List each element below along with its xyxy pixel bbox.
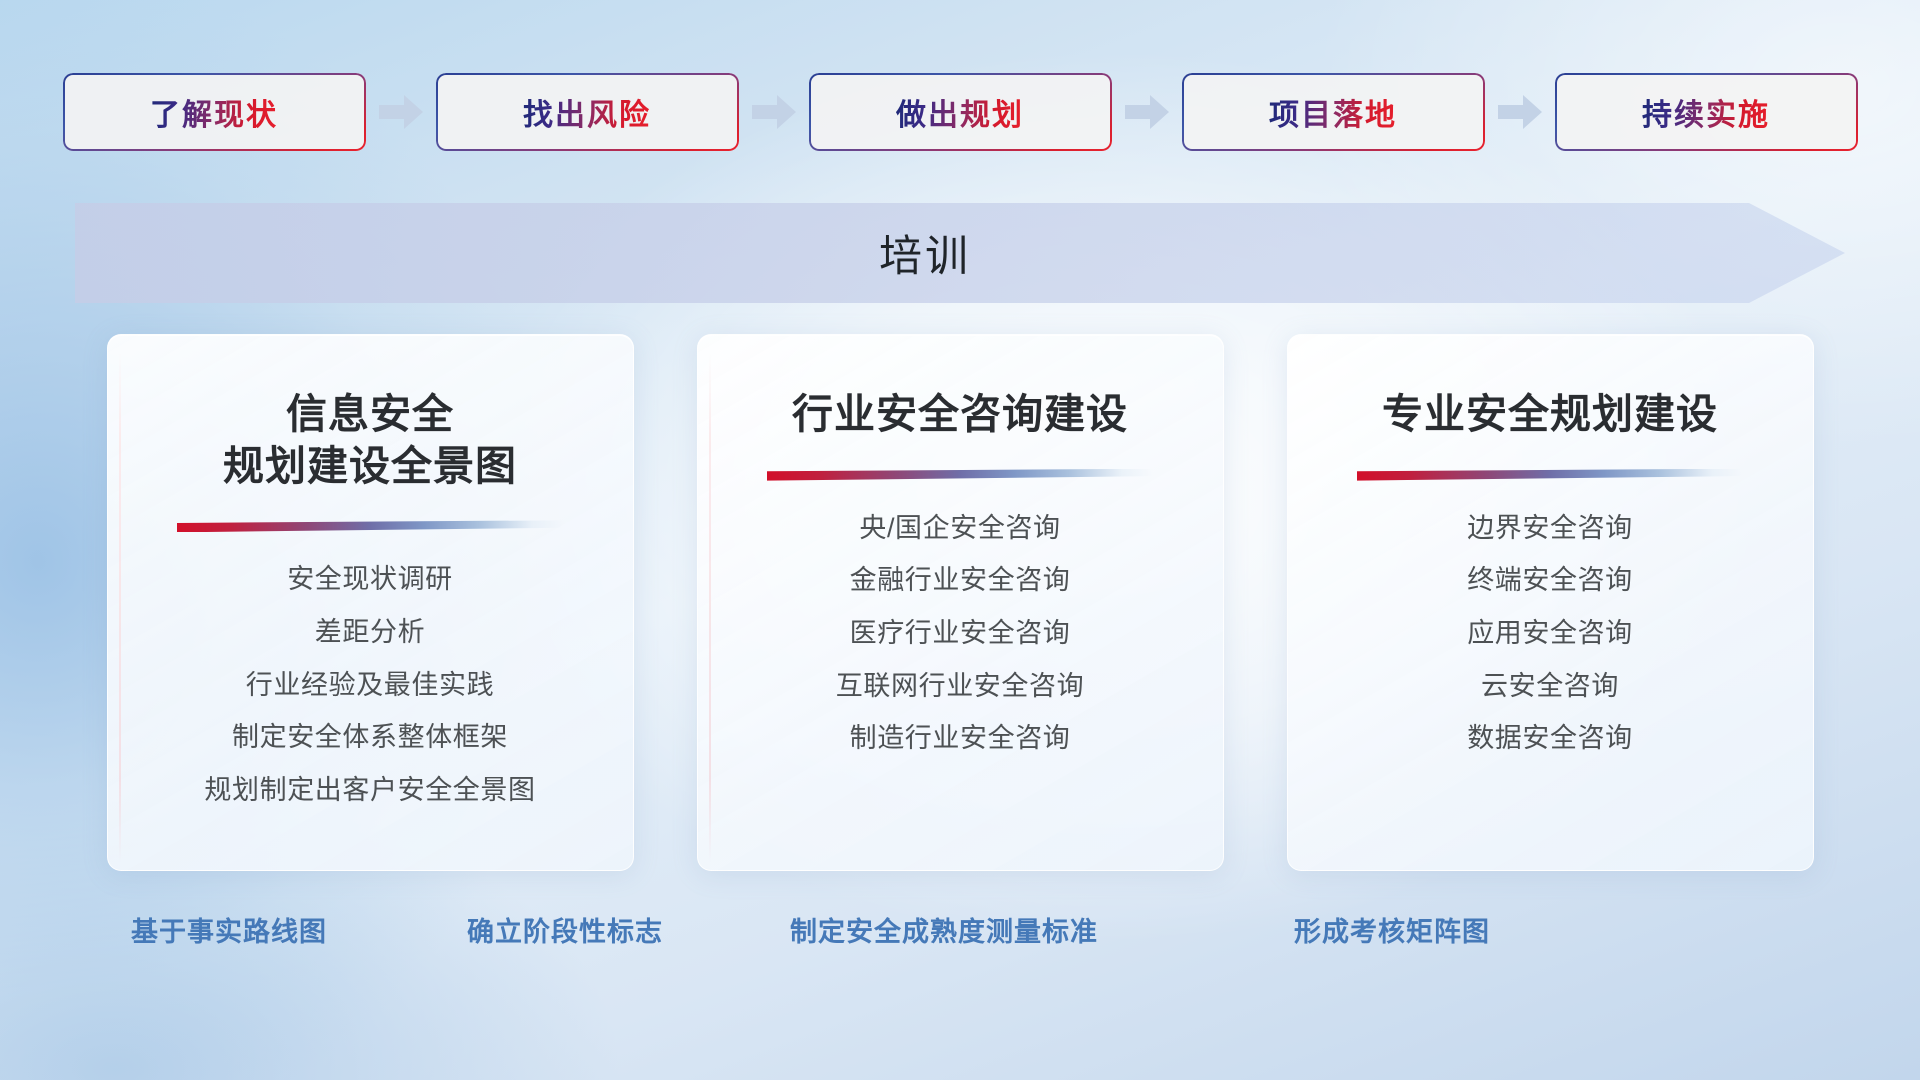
- training-banner: 培训: [75, 203, 1845, 303]
- arrow-right-icon: [752, 95, 796, 129]
- card-title: 专业安全规划建设: [1382, 389, 1718, 441]
- list-item: 数据安全咨询: [1467, 717, 1633, 760]
- step-label: 项目落地: [1269, 90, 1397, 134]
- step-box-2[interactable]: 找出风险: [436, 73, 739, 151]
- card-list: 边界安全咨询 终端安全咨询 应用安全咨询 云安全咨询 数据安全咨询: [1318, 507, 1783, 760]
- card-information-security[interactable]: 信息安全 规划建设全景图 安全现状调研 差距分析 行业经验及最佳实践 制定安全体…: [107, 334, 634, 871]
- list-item: 行业经验及最佳实践: [246, 664, 494, 707]
- step-label: 持续实施: [1642, 90, 1770, 134]
- bottom-label: 形成考核矩阵图: [1294, 910, 1490, 949]
- list-item: 规划制定出客户安全全景图: [204, 769, 535, 812]
- list-item: 制造行业安全咨询: [850, 717, 1071, 760]
- list-item: 金融行业安全咨询: [850, 559, 1071, 602]
- list-item: 应用安全咨询: [1467, 612, 1633, 655]
- arrow-right-icon: [1498, 95, 1542, 129]
- step-box-1[interactable]: 了解现状: [63, 73, 366, 151]
- step-box-5[interactable]: 持续实施: [1555, 73, 1858, 151]
- bottom-label: 制定安全成熟度测量标准: [790, 910, 1098, 949]
- step-box-3[interactable]: 做出规划: [809, 73, 1112, 151]
- bottom-label-row: 基于事实路线图 确立阶段性标志 制定安全成熟度测量标准 形成考核矩阵图: [0, 910, 1920, 966]
- list-item: 边界安全咨询: [1467, 507, 1633, 550]
- arrow-right-icon: [1125, 95, 1169, 129]
- step-box-4[interactable]: 项目落地: [1182, 73, 1485, 151]
- card-divider: [1357, 469, 1743, 481]
- process-step-row: 了解现状 找出风险 做出规划 项目落地 持续实施: [0, 72, 1920, 152]
- arrow-right-icon: [379, 95, 423, 129]
- list-item: 互联网行业安全咨询: [836, 665, 1084, 708]
- card-divider: [177, 520, 563, 532]
- list-item: 医疗行业安全咨询: [850, 612, 1071, 655]
- bottom-label: 基于事实路线图: [131, 910, 327, 949]
- card-list: 央/国企安全咨询 金融行业安全咨询 医疗行业安全咨询 互联网行业安全咨询 制造行…: [728, 507, 1193, 760]
- card-row: 信息安全 规划建设全景图 安全现状调研 差距分析 行业经验及最佳实践 制定安全体…: [0, 334, 1920, 874]
- card-title: 行业安全咨询建设: [792, 389, 1128, 441]
- bottom-label: 确立阶段性标志: [467, 910, 663, 949]
- card-professional-planning[interactable]: 专业安全规划建设 边界安全咨询 终端安全咨询 应用安全咨询 云安全咨询 数据安全…: [1287, 334, 1814, 871]
- list-item: 安全现状调研: [287, 558, 453, 601]
- card-title: 信息安全 规划建设全景图: [223, 389, 517, 492]
- list-item: 终端安全咨询: [1467, 559, 1633, 602]
- card-industry-consulting[interactable]: 行业安全咨询建设 央/国企安全咨询 金融行业安全咨询 医疗行业安全咨询 互联网行…: [697, 334, 1224, 871]
- list-item: 央/国企安全咨询: [859, 507, 1060, 550]
- card-list: 安全现状调研 差距分析 行业经验及最佳实践 制定安全体系整体框架 规划制定出客户…: [138, 558, 603, 811]
- step-label: 做出规划: [896, 90, 1024, 134]
- list-item: 差距分析: [315, 611, 425, 654]
- list-item: 云安全咨询: [1481, 665, 1619, 708]
- step-label: 了解现状: [150, 90, 278, 134]
- list-item: 制定安全体系整体框架: [232, 716, 508, 759]
- step-label: 找出风险: [523, 90, 651, 134]
- card-divider: [767, 469, 1153, 481]
- banner-title: 培训: [75, 203, 1775, 303]
